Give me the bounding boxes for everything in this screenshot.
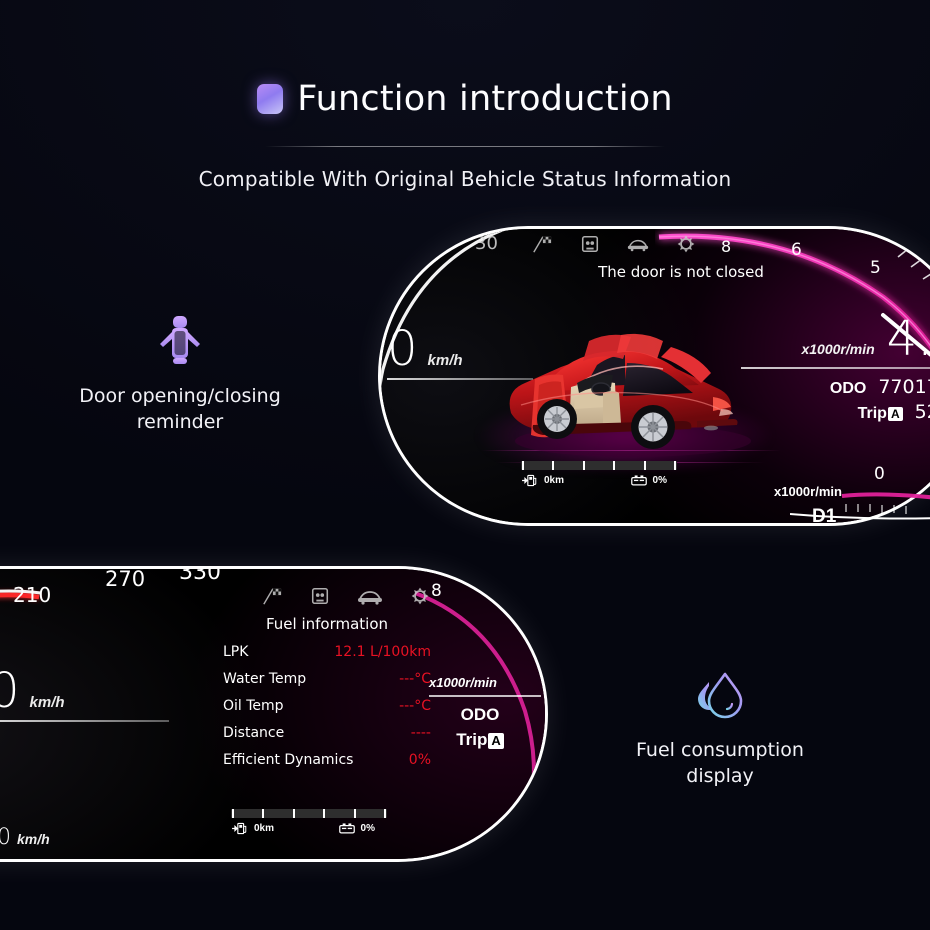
rpm-readout-top: x1000r/min 4.2 ODO 770175 km TripA 521 k… — [741, 317, 930, 426]
speed-readout-top: 0 km/h — [387, 325, 533, 380]
trip-value-top: 521 — [915, 401, 930, 423]
rpm-readout-bottom: x1000r/min ODO TripA — [429, 675, 545, 750]
page-title: Function introduction — [297, 79, 673, 119]
fuel-bar-track-top — [521, 461, 677, 470]
rpm-value-top: 4.2 — [887, 317, 930, 363]
battery-icon — [338, 822, 356, 835]
fuel-bar-values-top: 0km 0% — [521, 474, 677, 487]
trip-badge-bottom: A — [488, 733, 503, 749]
range-cell-top: 0km — [521, 474, 564, 487]
fuel-info-row: Efficient Dynamics 0% — [223, 752, 431, 768]
title-divider — [265, 146, 665, 147]
fuel-pump-icon — [521, 474, 539, 487]
odo-row-top: ODO 770175 km — [741, 376, 930, 398]
odo-label-bottom: ODO — [429, 705, 531, 725]
fuel-tick — [262, 809, 264, 818]
battery-cell-bottom: 0% — [338, 822, 375, 835]
fuel-info-row: Oil Temp ---°C — [223, 698, 431, 714]
fuel-info-value: ---°C — [399, 671, 431, 687]
trip-badge-top: A — [888, 407, 903, 421]
speed-underline-bottom — [0, 720, 169, 722]
fuel-pump-icon — [231, 822, 249, 835]
page-header: Function introduction Compatible With Or… — [0, 0, 930, 191]
fuel-tick — [583, 461, 585, 470]
fuel-info-row: Distance ---- — [223, 725, 431, 741]
car-doors-open-icon — [157, 314, 203, 366]
odo-label-top: ODO — [830, 380, 866, 398]
overlap-rpm-tick-0: 0 — [874, 464, 885, 484]
fuel-droplets-icon — [691, 668, 749, 720]
trip-label-bottom: TripA — [429, 730, 531, 750]
media-cassette-icon[interactable] — [309, 586, 331, 606]
fuel-tick — [644, 461, 646, 470]
fuel-tick — [232, 809, 234, 818]
fuel-info-key: Distance — [223, 725, 284, 741]
fuel-tick — [323, 809, 325, 818]
rpm-underline-bottom — [429, 695, 541, 697]
trip-label-top: TripA — [858, 405, 903, 423]
speed-underline-top — [387, 378, 533, 380]
fuel-battery-bar-bottom: 0km 0% — [231, 809, 387, 835]
cluster-bottom-icon-strip[interactable] — [231, 583, 461, 609]
speed-tick-210: 210 — [13, 583, 51, 607]
rpm-unit-top: x1000r/min — [801, 341, 874, 357]
fuel-info-key: LPK — [223, 644, 248, 660]
range-value-bottom: 0km — [254, 823, 274, 834]
fuel-info-key: Efficient Dynamics — [223, 752, 353, 768]
instrument-cluster-bottom: 210 270 330 8 — [0, 566, 548, 862]
speed-unit-top: km/h — [428, 352, 463, 369]
page-subtitle: Compatible With Original Behicle Status … — [0, 167, 930, 191]
fuel-tick — [293, 809, 295, 818]
fuel-info-row: Water Temp ---°C — [223, 671, 431, 687]
road-flag-icon[interactable] — [261, 586, 283, 606]
cluster-top-icon-strip[interactable] — [499, 231, 729, 257]
odo-value-top: 770175 — [878, 376, 930, 398]
feature-door-label-l1: Door opening/closing — [79, 385, 281, 407]
car-front-icon[interactable] — [627, 234, 649, 254]
fuel-info-key: Oil Temp — [223, 698, 284, 714]
feature-fuel-consumption: Fuel consumption display — [600, 668, 840, 789]
fuel-bar-track-bottom — [231, 809, 387, 818]
speed-value-top: 0 — [387, 325, 418, 373]
title-badge-icon — [257, 84, 283, 114]
rpm-tick-6: 6 — [791, 240, 802, 260]
speed-tick-270: 270 — [105, 569, 145, 591]
speed-tick-330: 330 — [179, 569, 221, 585]
feature-door-label: Door opening/closing reminder — [60, 384, 300, 435]
speed-unit-bottom: km/h — [30, 694, 65, 711]
feature-fuel-label: Fuel consumption display — [600, 738, 840, 789]
cluster-bottom-inner: 210 270 330 8 — [0, 569, 545, 859]
media-cassette-icon[interactable] — [579, 234, 601, 254]
gear-icon[interactable] — [409, 586, 431, 606]
battery-value-top: 0% — [653, 475, 667, 486]
fuel-tick — [613, 461, 615, 470]
fuel-tick — [384, 809, 386, 818]
fuel-info-row: LPK 12.1 L/100km — [223, 644, 431, 660]
door-warning-message: The door is not closed — [471, 263, 891, 281]
fuel-info-value: 0% — [409, 752, 431, 768]
trip-text-top: Trip — [858, 405, 887, 422]
overlap-gear-indicator: D1 — [812, 506, 836, 528]
battery-cell-top: 0% — [630, 474, 667, 487]
rpm-unit-bottom: x1000r/min — [429, 675, 545, 690]
fuel-info-title: Fuel information — [223, 615, 431, 633]
gear-icon[interactable] — [675, 234, 697, 254]
range-cell-bottom: 0km — [231, 822, 274, 835]
fuel-info-value: ---- — [411, 725, 431, 741]
range-value-top: 0km — [544, 475, 564, 486]
fuel-information-panel: Fuel information LPK 12.1 L/100km Water … — [223, 615, 431, 779]
fuel-tick — [522, 461, 524, 470]
trip-row-top: TripA 521 km — [741, 401, 930, 423]
battery-icon — [630, 474, 648, 487]
car-front-icon[interactable] — [357, 586, 383, 606]
speed-readout-bottom: 0 km/h — [0, 667, 169, 722]
feature-door-reminder: Door opening/closing reminder — [60, 314, 300, 435]
speed-unit-corner: km/h — [17, 831, 50, 847]
fuel-tick — [552, 461, 554, 470]
road-flag-icon[interactable] — [531, 234, 553, 254]
fuel-tick — [674, 461, 676, 470]
cluster-overlap-top-right: 0 x1000r/min D1 — [762, 462, 930, 532]
speed-value-corner: 0 — [0, 825, 11, 850]
feature-door-label-l2: reminder — [137, 411, 223, 433]
fuel-info-key: Water Temp — [223, 671, 306, 687]
battery-value-bottom: 0% — [361, 823, 375, 834]
overlap-rpm-unit: x1000r/min — [774, 484, 842, 499]
speed-readout-bottom-corner: 0 km/h — [0, 825, 50, 850]
speed-tick-30: 30 — [475, 233, 498, 254]
fuel-bar-values-bottom: 0km 0% — [231, 822, 387, 835]
title-row: Function introduction — [0, 70, 930, 128]
fuel-battery-bar-top: 0km 0% — [521, 461, 677, 487]
fuel-info-value: 12.1 L/100km — [334, 644, 431, 660]
fuel-info-value: ---°C — [399, 698, 431, 714]
page-root: Function introduction Compatible With Or… — [0, 0, 930, 930]
trip-text-bottom: Trip — [456, 730, 487, 749]
fuel-tick — [354, 809, 356, 818]
speed-value-bottom: 0 — [0, 667, 20, 715]
overlap-rpm-arc — [790, 474, 930, 532]
